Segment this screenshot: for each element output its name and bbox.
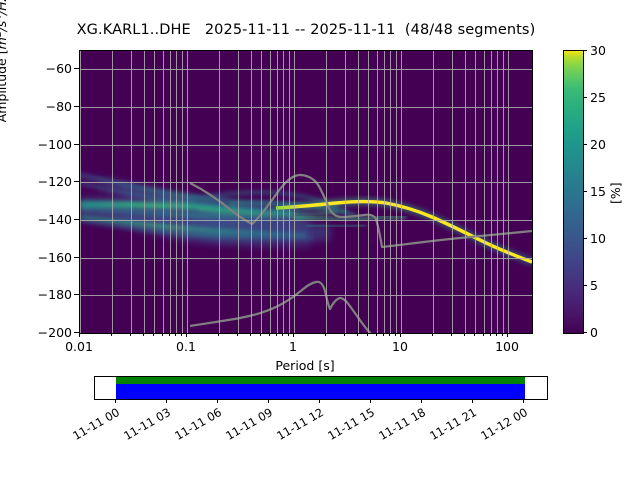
xtick-minor: [130, 333, 131, 336]
ytick-label: −140: [24, 212, 72, 227]
vgrid-line: [401, 51, 402, 333]
timeline-tick-mark: [370, 399, 371, 403]
colorbar-tick-label: 20: [590, 137, 606, 152]
vgrid-line: [182, 51, 183, 333]
ytick-label: −160: [24, 250, 72, 265]
vgrid-line: [144, 51, 145, 333]
xtick-label: 100: [482, 339, 532, 354]
xtick-minor: [162, 333, 163, 336]
xtick-minor: [357, 333, 358, 336]
ylabel-prefix: Amplitude [: [0, 49, 9, 122]
xtick-mark: [400, 333, 401, 337]
xtick-minor: [432, 333, 433, 336]
vgrid-line: [277, 51, 278, 333]
xtick-minor: [181, 333, 182, 336]
timeline-tick-mark: [319, 399, 320, 403]
vgrid-line: [497, 51, 498, 333]
timeline-tick-label: 11-11 06: [169, 405, 224, 445]
vgrid-line: [131, 51, 132, 333]
vgrid-line: [465, 51, 466, 333]
ylabel-unit-m: m: [0, 37, 9, 49]
time-coverage-bar-bottom: [116, 384, 525, 399]
ytick-mark: [74, 106, 79, 107]
timeline-tick-label: 11-11 15: [322, 405, 377, 445]
timeline-tick-label: 11-11 18: [373, 405, 428, 445]
xtick-minor: [218, 333, 219, 336]
vgrid-line: [112, 51, 113, 333]
low-noise-model-curve: [190, 282, 532, 333]
xtick-minor: [237, 333, 238, 336]
colorbar-tick-mark: [583, 50, 587, 51]
y-axis-label: Amplitude [m2/s4/Hz] [dB]: [0, 0, 9, 191]
vgrid-line: [384, 51, 385, 333]
xtick-minor: [269, 333, 270, 336]
vgrid-line: [491, 51, 492, 333]
ytick-mark: [74, 294, 79, 295]
ytick-mark: [74, 68, 79, 69]
ppsd-plot-area[interactable]: [79, 50, 533, 334]
vgrid-line: [294, 51, 295, 333]
vgrid-line: [326, 51, 327, 333]
timeline-tick-label: 11-11 12: [271, 405, 326, 445]
vgrid-line: [377, 51, 378, 333]
vgrid-line: [176, 51, 177, 333]
timeline-tick-label: 11-11 00: [67, 405, 122, 445]
colorbar-tick-mark: [583, 285, 587, 286]
ytick-label: −80: [24, 99, 72, 114]
ylabel-unit-per-s: /s: [0, 21, 9, 32]
colorbar-tick-mark: [583, 97, 587, 98]
ylabel-unit-hz: /Hz: [0, 0, 9, 15]
xtick-minor: [395, 333, 396, 336]
vgrid-line: [345, 51, 346, 333]
xtick-minor: [169, 333, 170, 336]
xtick-minor: [288, 333, 289, 336]
xtick-minor: [483, 333, 484, 336]
vgrid-line: [508, 51, 509, 333]
xtick-minor: [325, 333, 326, 336]
colorbar-tick-mark: [583, 191, 587, 192]
xtick-mark: [79, 333, 80, 337]
vgrid-line: [187, 51, 188, 333]
vgrid-line: [358, 51, 359, 333]
ylabel-unit-sup2: 2: [0, 31, 4, 37]
colorbar-tick-mark: [583, 238, 587, 239]
vgrid-line: [503, 51, 504, 333]
timeline-tick-mark: [472, 399, 473, 403]
vgrid-line: [484, 51, 485, 333]
page-title: XG.KARL1..DHE 2025-11-11 -- 2025-11-11 (…: [0, 22, 612, 38]
colorbar-label: [%]: [608, 182, 623, 204]
ytick-mark: [74, 144, 79, 145]
ytick-label: −100: [24, 137, 72, 152]
time-coverage-axes[interactable]: [94, 376, 548, 400]
xtick-minor: [464, 333, 465, 336]
xtick-minor: [502, 333, 503, 336]
xtick-minor: [250, 333, 251, 336]
xtick-minor: [175, 333, 176, 336]
timeline-tick-mark: [421, 399, 422, 403]
xtick-minor: [153, 333, 154, 336]
vgrid-line: [80, 51, 81, 333]
vgrid-line: [163, 51, 164, 333]
xtick-minor: [389, 333, 390, 336]
colorbar[interactable]: [563, 50, 584, 334]
vgrid-line: [289, 51, 290, 333]
timeline-tick-mark: [115, 399, 116, 403]
timeline-tick-label: 11-12 00: [475, 405, 530, 445]
ytick-mark: [74, 257, 79, 258]
xtick-minor: [260, 333, 261, 336]
colorbar-tick-mark: [583, 332, 587, 333]
xtick-minor: [367, 333, 368, 336]
xtick-mark: [186, 333, 187, 337]
xtick-minor: [344, 333, 345, 336]
vgrid-line: [390, 51, 391, 333]
timeline-tick-label: 11-11 03: [118, 405, 173, 445]
xtick-mark: [507, 333, 508, 337]
xtick-label: 1: [273, 339, 313, 354]
colorbar-tick-label: 0: [590, 325, 598, 340]
vgrid-line: [251, 51, 252, 333]
timeline-tick-mark: [217, 399, 218, 403]
xtick-minor: [276, 333, 277, 336]
xtick-minor: [383, 333, 384, 336]
colorbar-tick-label: 10: [590, 231, 606, 246]
colorbar-tick-label: 30: [590, 43, 606, 58]
xtick-minor: [474, 333, 475, 336]
xtick-minor: [451, 333, 452, 336]
ytick-label: −180: [24, 287, 72, 302]
xtick-label: 0.1: [161, 339, 211, 354]
time-coverage-bar-top: [116, 377, 525, 384]
vgrid-line: [261, 51, 262, 333]
vgrid-line: [219, 51, 220, 333]
ytick-label: −60: [24, 61, 72, 76]
vgrid-line: [238, 51, 239, 333]
vgrid-line: [475, 51, 476, 333]
timeline-tick-label: 11-11 09: [220, 405, 275, 445]
timeline-tick-mark: [166, 399, 167, 403]
ppsd-canvas: [80, 51, 532, 333]
vgrid-line: [170, 51, 171, 333]
ylabel-unit-sup4: 4: [0, 15, 4, 21]
vgrid-line: [396, 51, 397, 333]
colorbar-tick-label: 25: [590, 90, 606, 105]
vgrid-line: [368, 51, 369, 333]
timeline-tick-mark: [268, 399, 269, 403]
xtick-minor: [143, 333, 144, 336]
xtick-label: 0.01: [49, 339, 109, 354]
vgrid-line: [154, 51, 155, 333]
ytick-label: −120: [24, 174, 72, 189]
timeline-tick-label: 11-11 21: [424, 405, 479, 445]
ytick-label: −200: [24, 325, 72, 340]
colorbar-tick-label: 15: [590, 184, 606, 199]
xtick-minor: [496, 333, 497, 336]
vgrid-line: [283, 51, 284, 333]
colorbar-tick-mark: [583, 144, 587, 145]
timeline-tick-mark: [523, 399, 524, 403]
colorbar-tick-label: 5: [590, 278, 598, 293]
xtick-mark: [293, 333, 294, 337]
xtick-minor: [490, 333, 491, 336]
xtick-minor: [376, 333, 377, 336]
ytick-mark: [74, 181, 79, 182]
xtick-label: 10: [380, 339, 420, 354]
xtick-minor: [282, 333, 283, 336]
x-axis-label: Period [s]: [79, 358, 531, 373]
ytick-mark: [74, 219, 79, 220]
xtick-minor: [111, 333, 112, 336]
vgrid-line: [433, 51, 434, 333]
vgrid-line: [270, 51, 271, 333]
vgrid-line: [452, 51, 453, 333]
